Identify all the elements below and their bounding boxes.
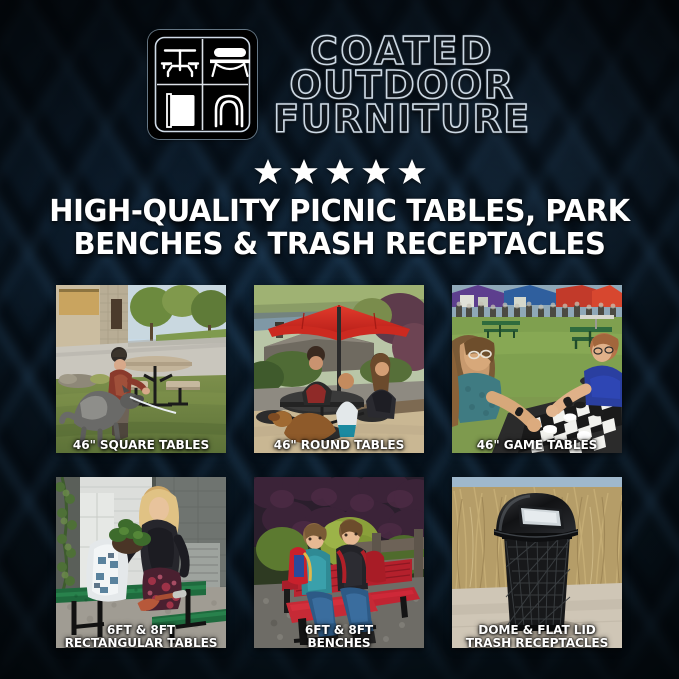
caption-trash-receptacles: DOME & FLAT LID TRASH RECEPTACLES — [455, 623, 620, 649]
caption-line: TRASH RECEPTACLES — [455, 636, 620, 648]
caption-square-tables: 46" SQUARE TABLES — [59, 438, 224, 451]
caption-benches: 6FT & 8FT BENCHES — [257, 623, 422, 649]
caption-line: BENCHES — [257, 636, 422, 648]
caption-line: 46" GAME TABLES — [455, 438, 620, 451]
star-icon — [361, 157, 391, 187]
star-rating — [0, 155, 679, 189]
category-tile-benches[interactable]: 6FT & 8FT BENCHES — [254, 477, 424, 648]
caption-game-tables: 46" GAME TABLES — [455, 438, 620, 451]
star-icon — [289, 157, 319, 187]
caption-round-tables: 46" ROUND TABLES — [257, 438, 422, 451]
logo-wordmark: COATED OUTDOOR FURNITURE — [273, 32, 531, 137]
headline-line-1: HIGH-QUALITY PICNIC TABLES, PARK — [45, 196, 633, 229]
brand-logo: COATED OUTDOOR FURNITURE — [0, 26, 679, 142]
photo-round-tables — [254, 285, 424, 453]
star-icon — [397, 157, 427, 187]
category-tile-game-tables[interactable]: 46" GAME TABLES — [452, 285, 622, 453]
photo-game-tables — [452, 285, 622, 453]
photo-square-tables — [56, 285, 226, 453]
caption-rectangular-tables: 6FT & 8FT RECTANGULAR TABLES — [59, 623, 224, 649]
promo-banner: COATED OUTDOOR FURNITURE HIGH-QUALITY PI… — [0, 0, 679, 679]
category-tile-trash-receptacles[interactable]: DOME & FLAT LID TRASH RECEPTACLES — [452, 477, 622, 648]
caption-line: 46" SQUARE TABLES — [59, 438, 224, 451]
headline-line-2: BENCHES & TRASH RECEPTACLES — [45, 229, 633, 262]
page-title: HIGH-QUALITY PICNIC TABLES, PARK BENCHES… — [45, 196, 633, 262]
star-icon — [325, 157, 355, 187]
product-category-grid: 46" SQUARE TABLES — [56, 285, 623, 648]
star-icon — [253, 157, 283, 187]
logo-mark — [148, 30, 257, 139]
trash-receptacle-icon — [167, 94, 195, 127]
category-tile-round-tables[interactable]: 46" ROUND TABLES — [254, 285, 424, 453]
category-tile-rectangular-tables[interactable]: 6FT & 8FT RECTANGULAR TABLES — [56, 477, 226, 648]
caption-line: RECTANGULAR TABLES — [59, 636, 224, 648]
caption-line: 46" ROUND TABLES — [257, 438, 422, 451]
category-tile-square-tables[interactable]: 46" SQUARE TABLES — [56, 285, 226, 453]
logo-line-3: FURNITURE — [273, 102, 531, 136]
